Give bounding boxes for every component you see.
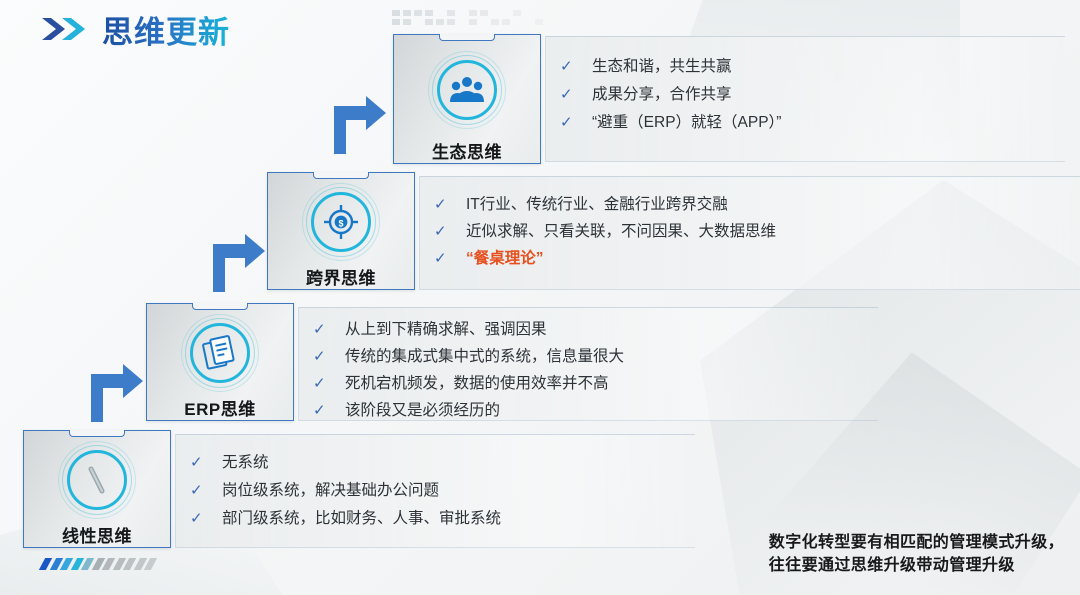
list-item: ✓ 从上到下精确求解、强调因果 xyxy=(299,322,878,349)
step-panel-crossover: ✓ IT行业、传统行业、金融行业跨界交融 ✓ 近似求解、只看关联，不问因果、大数… xyxy=(419,176,1080,290)
bullet-text: 岗位级系统，解决基础办公问题 xyxy=(222,483,439,499)
bullet-text-highlight: “餐桌理论” xyxy=(466,251,544,267)
list-item: ✓ 传统的集成式集中式的系统，信息量很大 xyxy=(299,349,878,376)
step-label-crossover: 跨界思维 xyxy=(306,264,376,289)
list-item: ✓ 岗位级系统，解决基础办公问题 xyxy=(176,483,695,511)
conclusion-line-2: 往往要通过思维升级带动管理升级 xyxy=(769,554,1064,577)
conclusion-text: 数字化转型要有相匹配的管理模式升级， 往往要通过思维升级带动管理升级 xyxy=(769,531,1064,577)
check-icon: ✓ xyxy=(299,376,345,391)
stripe-decoration xyxy=(42,558,160,570)
arrow-erp-to-crossover xyxy=(207,230,269,292)
bullet-text: 该阶段又是必须经历的 xyxy=(345,403,500,419)
dot-pattern-decoration xyxy=(392,10,562,28)
bullet-list-erp: ✓ 从上到下精确求解、强调因果 ✓ 传统的集成式集中式的系统，信息量很大 ✓ 死… xyxy=(299,322,878,430)
check-icon: ✓ xyxy=(299,403,345,418)
list-item: ✓ 无系统 xyxy=(176,455,695,483)
step-card-erp[interactable]: ERP思维 xyxy=(146,303,294,421)
check-icon: ✓ xyxy=(546,59,592,74)
double-chevron-icon xyxy=(40,16,88,42)
check-icon: ✓ xyxy=(176,483,222,498)
list-item: ✓ 部门级系统，比如财务、人事、审批系统 xyxy=(176,511,695,539)
page-title: 思维更新 xyxy=(102,7,230,52)
check-icon: ✓ xyxy=(299,349,345,364)
check-icon: ✓ xyxy=(420,197,466,212)
bullet-text: 从上到下精确求解、强调因果 xyxy=(345,322,547,338)
list-item: ✓ 该阶段又是必须经历的 xyxy=(299,403,878,430)
bullet-text: 无系统 xyxy=(222,455,269,471)
step-card-linear[interactable]: 线性思维 xyxy=(23,430,171,548)
list-item: ✓ IT行业、传统行业、金融行业跨界交融 xyxy=(420,197,1080,224)
target-dollar-icon: $ xyxy=(302,189,380,255)
slide-canvas: 思维更新 生态思维 ✓ 生态和谐，共生共赢 ✓ 成果分享，合作共享 xyxy=(0,0,1080,595)
step-card-crossover[interactable]: $ 跨界思维 xyxy=(267,172,415,290)
bullet-text: IT行业、传统行业、金融行业跨界交融 xyxy=(466,197,728,213)
card-notch xyxy=(439,34,495,41)
check-icon: ✓ xyxy=(176,455,222,470)
list-item: ✓ “避重（ERP）就轻（APP）” xyxy=(546,115,1065,143)
bullet-text: 成果分享，合作共享 xyxy=(592,87,732,103)
documents-icon xyxy=(181,320,259,386)
step-panel-erp: ✓ 从上到下精确求解、强调因果 ✓ 传统的集成式集中式的系统，信息量很大 ✓ 死… xyxy=(298,307,878,421)
conclusion-line-1: 数字化转型要有相匹配的管理模式升级， xyxy=(769,531,1064,554)
step-label-erp: ERP思维 xyxy=(184,395,255,420)
list-item: ✓ 成果分享，合作共享 xyxy=(546,87,1065,115)
bullet-text: 死机宕机频发，数据的使用效率并不高 xyxy=(345,376,609,392)
check-icon: ✓ xyxy=(420,224,466,239)
list-item: ✓ “餐桌理论” xyxy=(420,251,1080,278)
step-card-ecology[interactable]: 生态思维 xyxy=(393,34,541,164)
bullet-list-crossover: ✓ IT行业、传统行业、金融行业跨界交融 ✓ 近似求解、只看关联，不问因果、大数… xyxy=(420,197,1080,278)
check-icon: ✓ xyxy=(546,115,592,130)
bullet-list-linear: ✓ 无系统 ✓ 岗位级系统，解决基础办公问题 ✓ 部门级系统，比如财务、人事、审… xyxy=(176,455,695,539)
list-item: ✓ 近似求解、只看关联，不问因果、大数据思维 xyxy=(420,224,1080,251)
arrow-crossover-to-ecology xyxy=(328,92,390,154)
step-label-linear: 线性思维 xyxy=(62,522,132,547)
people-group-icon xyxy=(428,51,506,129)
card-notch xyxy=(313,172,369,179)
slide-header: 思维更新 xyxy=(40,8,230,50)
check-icon: ✓ xyxy=(420,251,466,266)
bullet-text: 传统的集成式集中式的系统，信息量很大 xyxy=(345,349,624,365)
bullet-text: “避重（ERP）就轻（APP）” xyxy=(592,115,781,131)
list-item: ✓ 死机宕机频发，数据的使用效率并不高 xyxy=(299,376,878,403)
card-notch xyxy=(192,303,248,310)
card-notch xyxy=(69,430,125,437)
step-panel-linear: ✓ 无系统 ✓ 岗位级系统，解决基础办公问题 ✓ 部门级系统，比如财务、人事、审… xyxy=(175,434,695,548)
check-icon: ✓ xyxy=(176,511,222,526)
svg-text:$: $ xyxy=(338,219,343,229)
bullet-text: 生态和谐，共生共赢 xyxy=(592,59,732,75)
bullet-list-ecology: ✓ 生态和谐，共生共赢 ✓ 成果分享，合作共享 ✓ “避重（ERP）就轻（APP… xyxy=(546,59,1065,143)
arrow-linear-to-erp xyxy=(85,360,147,422)
step-label-ecology: 生态思维 xyxy=(432,138,502,163)
check-icon: ✓ xyxy=(546,87,592,102)
list-item: ✓ 生态和谐，共生共赢 xyxy=(546,59,1065,87)
diagonal-line-icon xyxy=(58,447,136,513)
step-panel-ecology: ✓ 生态和谐，共生共赢 ✓ 成果分享，合作共享 ✓ “避重（ERP）就轻（APP… xyxy=(545,36,1065,162)
check-icon: ✓ xyxy=(299,322,345,337)
bullet-text: 部门级系统，比如财务、人事、审批系统 xyxy=(222,511,501,527)
bullet-text: 近似求解、只看关联，不问因果、大数据思维 xyxy=(466,224,776,240)
